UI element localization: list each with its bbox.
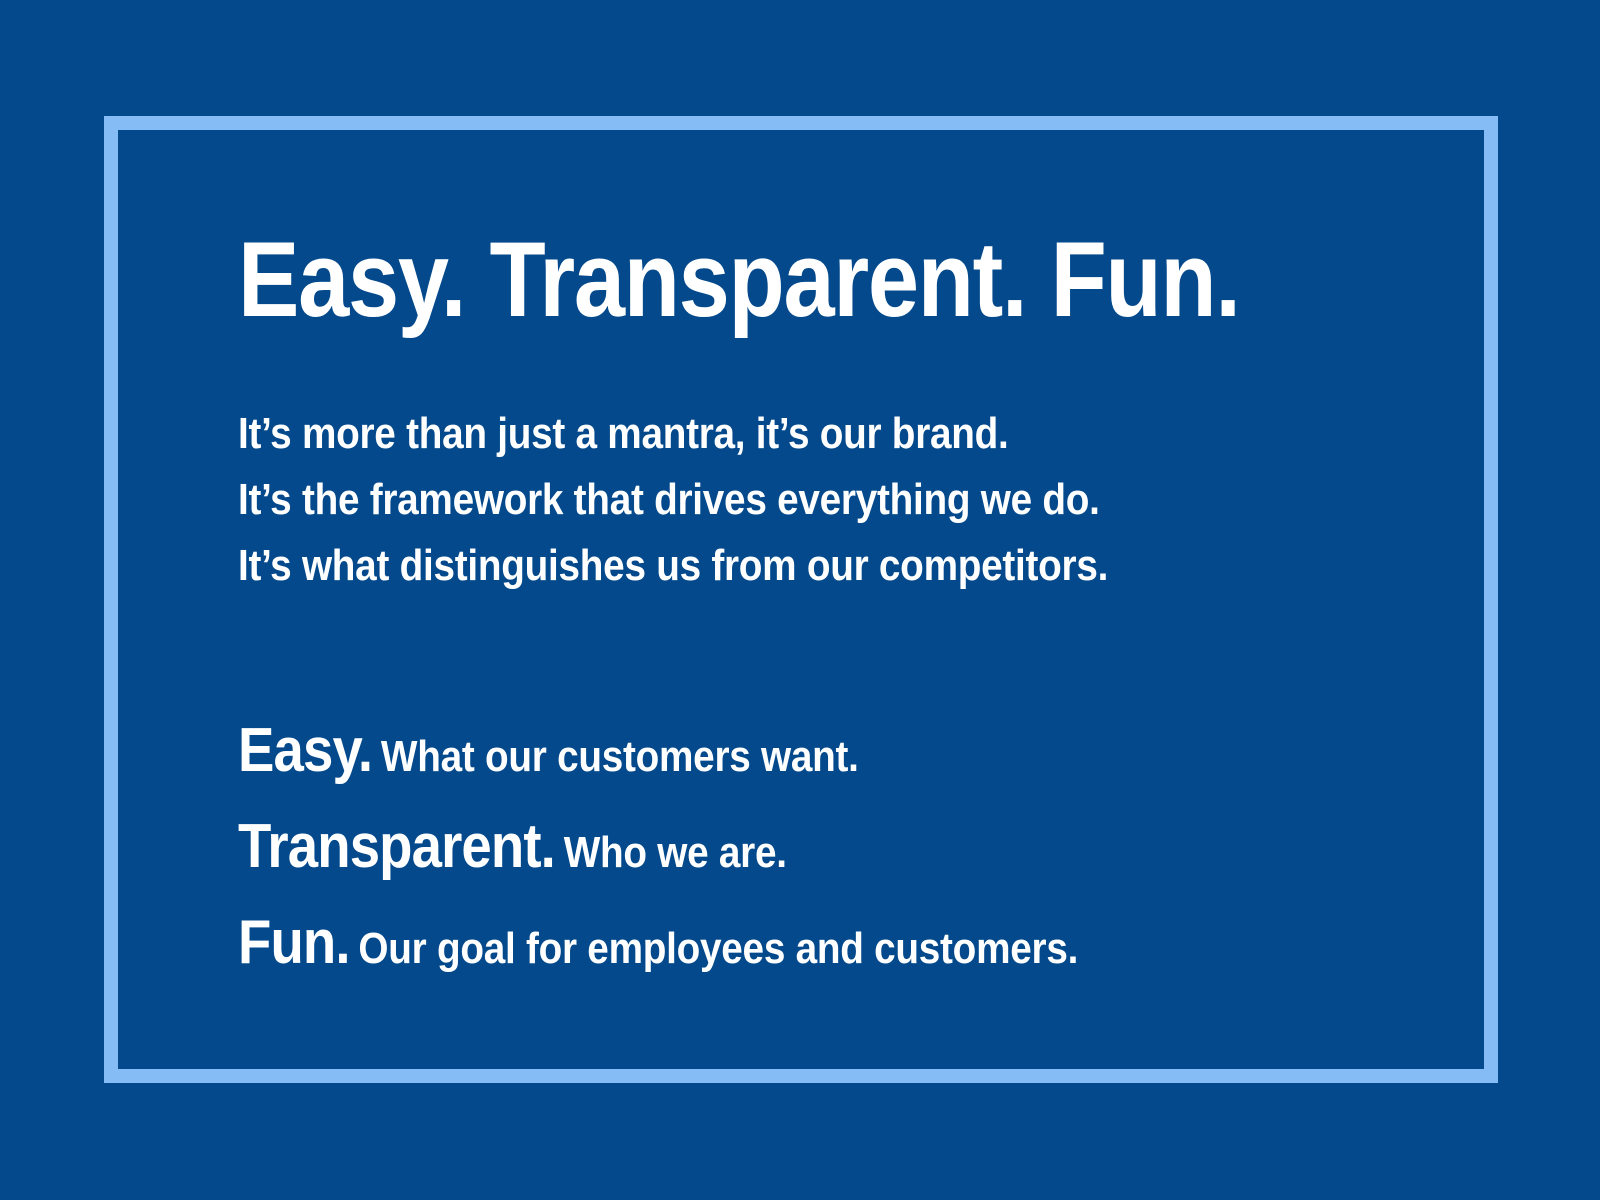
pillar-term: Fun. — [238, 908, 350, 977]
intro-paragraph-line: It’s what distinguishes us from our comp… — [238, 533, 1276, 599]
page-title: Easy. Transparent. Fun. — [238, 226, 1253, 333]
pillar-term: Easy. — [238, 716, 372, 785]
pillar-list: Easy.What our customers want. Transparen… — [238, 711, 1418, 999]
pillar-description: What our customers want. — [372, 732, 859, 781]
intro-paragraph: It’s more than just a mantra, it’s our b… — [238, 401, 1418, 599]
pillar-item: Transparent.Who we are. — [238, 807, 1276, 903]
pillar-item: Easy.What our customers want. — [238, 711, 1276, 807]
pillar-item: Fun.Our goal for employees and customers… — [238, 903, 1276, 999]
slide-canvas: Easy. Transparent. Fun. It’s more than j… — [0, 0, 1600, 1200]
pillar-description: Our goal for employees and customers. — [350, 924, 1078, 973]
intro-paragraph-line: It’s the framework that drives everythin… — [238, 467, 1276, 533]
slide-content: Easy. Transparent. Fun. It’s more than j… — [238, 226, 1418, 999]
pillar-term: Transparent. — [238, 812, 555, 881]
pillar-description: Who we are. — [555, 828, 787, 877]
intro-paragraph-line: It’s more than just a mantra, it’s our b… — [238, 401, 1276, 467]
